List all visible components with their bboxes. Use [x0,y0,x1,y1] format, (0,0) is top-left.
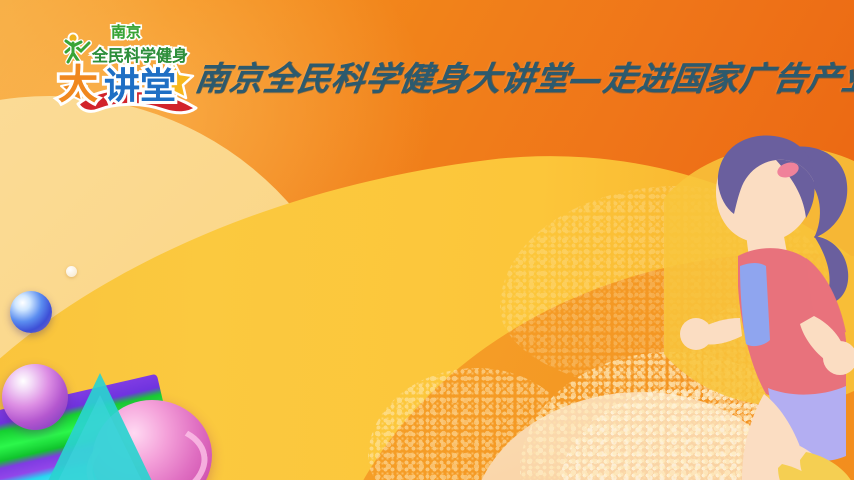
blue-sphere-decor [10,291,52,333]
svg-text:讲堂: 讲堂 [104,66,176,107]
svg-text:大: 大 [58,62,98,108]
runner-illustration [664,126,854,480]
svg-text:全民科学健身: 全民科学健身 [91,46,188,65]
white-dot-decor [66,266,77,277]
pink-sphere-decor [2,364,68,430]
svg-text:南京: 南京 [111,23,141,41]
cyan-triangle-inner-decor [58,395,142,480]
poster-canvas: 南京 南京 全民科学健身 全民科学健身 大 大 讲堂 讲堂 南京全民科学健身大讲… [0,0,854,480]
program-logo: 南京 南京 全民科学健身 全民科学健身 大 大 讲堂 讲堂 [52,18,202,122]
poster-title: 南京全民科学健身大讲堂—走进国家广告产业园 [193,52,854,100]
